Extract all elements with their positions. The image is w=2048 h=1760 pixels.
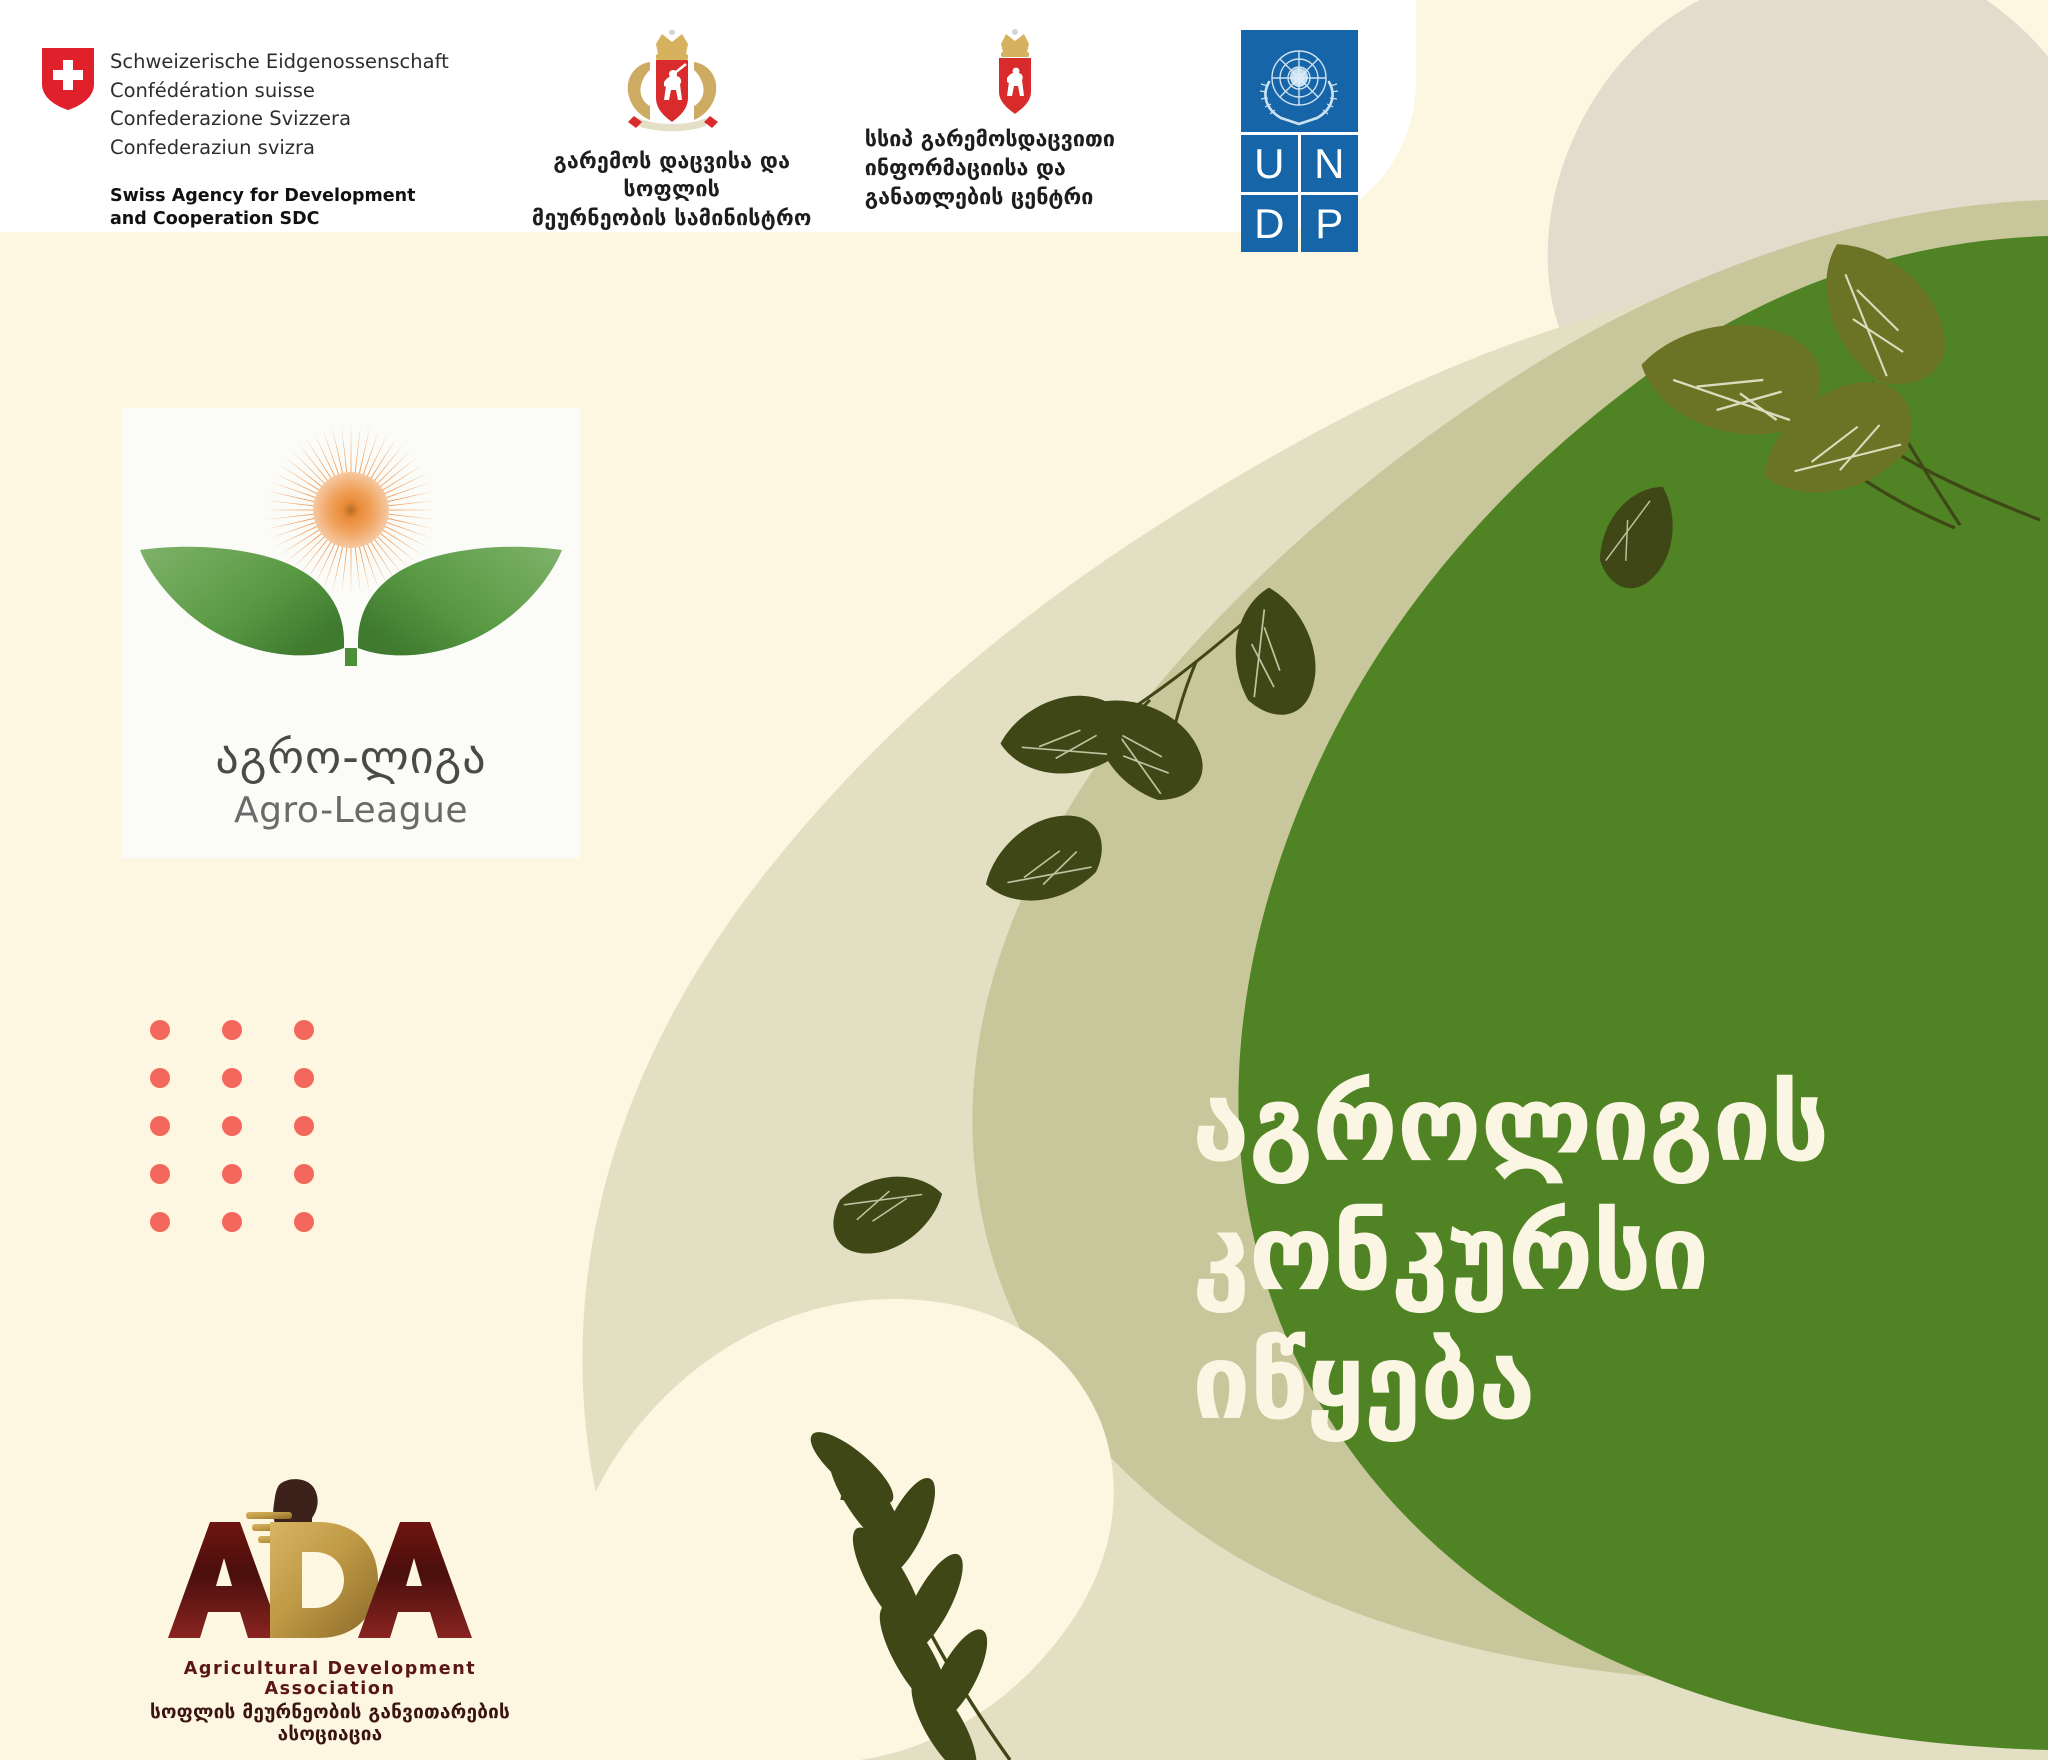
agro-league-name-en: Agro-League [122,790,580,831]
swiss-line-de: Schweizerische Eidgenossenschaft [110,48,449,77]
environmental-center-logo: სსიპ გარემოსდაცვითი ინფორმაციისა და განა… [837,0,1165,212]
agro-league-logo-icon [122,422,580,732]
swiss-line-it: Confederazione Svizzera [110,105,449,134]
dot [222,1212,242,1232]
headline-line-2: კონკურსი [1192,1189,1952,1318]
georgia-shield-icon [989,28,1041,118]
page-title: აგროლიგის კონკურსი იწყება [1192,1060,1952,1447]
dot [150,1164,170,1184]
ada-subtitle-en: Agricultural Development Association [140,1659,520,1699]
agro-league-name-ka: აგრო-ლიგა [122,730,580,784]
dot [150,1068,170,1088]
dot [150,1116,170,1136]
swiss-agency-name: Swiss Agency for Development and Coopera… [110,185,449,232]
center-name: სსიპ გარემოსდაცვითი ინფორმაციისა და განა… [865,126,1165,212]
ada-subtitle-ka: სოფლის მეურნეობის განვითარების ასოციაცია [140,1701,520,1745]
poster-canvas: Schweizerische Eidgenossenschaft Confédé… [0,0,2048,1760]
single-leaf [1580,482,1699,598]
swiss-agency-line-2: and Cooperation SDC [110,208,449,231]
ministry-line-2: მეურნეობის სამინისტრო [507,205,837,233]
ada-logo-icon [162,1478,482,1663]
ministry-line-1: გარემოს დაცვისა და სოფლის [507,148,837,205]
undp-letter-n: N [1301,135,1358,192]
dot [222,1164,242,1184]
partner-logo-header: Schweizerische Eidgenossenschaft Confédé… [0,0,1416,232]
center-line-2: ინფორმაციისა და [865,155,1165,184]
undp-letter-u: U [1241,135,1298,192]
undp-letter-grid: U N D P [1241,135,1358,252]
headline-line-1: აგროლიგის [1192,1060,1952,1189]
dot [294,1068,314,1088]
dot [222,1068,242,1088]
dot-grid-decoration [150,1020,366,1260]
leaf-left [140,547,344,656]
undp-letter-p: P [1301,195,1358,252]
dot [294,1212,314,1232]
swiss-agency-line-1: Swiss Agency for Development [110,185,449,208]
swiss-confederation-logo: Schweizerische Eidgenossenschaft Confédé… [0,0,449,232]
dot [294,1116,314,1136]
center-line-3: განათლების ცენტრი [865,184,1165,213]
ada-logo: Agricultural Development Association სოფ… [140,1478,520,1745]
dot [150,1020,170,1040]
un-emblem-icon [1241,30,1358,132]
ada-letter-d [270,1522,378,1638]
leaf-right [358,547,562,656]
mid-left-leaves [984,584,1347,918]
swiss-line-rm: Confederaziun svizra [110,134,449,163]
dot [150,1212,170,1232]
center-line-1: სსიპ გარემოსდაცვითი [865,126,1165,155]
swiss-names: Schweizerische Eidgenossenschaft Confédé… [110,48,449,163]
bottom-olive-branch [801,1422,1010,1760]
agro-league-logo-card: აგრო-ლიგა Agro-League [122,408,580,858]
dot [294,1164,314,1184]
undp-logo: U N D P [1165,0,1358,252]
undp-letter-d: D [1241,195,1298,252]
leaf-stem [345,648,357,666]
georgia-coat-of-arms-icon [616,30,728,138]
sun-core [313,472,389,548]
top-right-leaves [1635,244,1951,512]
small-leaf [825,1158,944,1272]
ministry-name: გარემოს დაცვისა და სოფლის მეურნეობის სამ… [507,148,837,233]
dot [294,1020,314,1040]
swiss-shield-icon [42,48,94,110]
headline-line-3: იწყება [1192,1318,1952,1447]
swiss-line-fr: Confédération suisse [110,77,449,106]
ministry-logo: გარემოს დაცვისა და სოფლის მეურნეობის სამ… [449,0,837,233]
dot [222,1116,242,1136]
dot [222,1020,242,1040]
